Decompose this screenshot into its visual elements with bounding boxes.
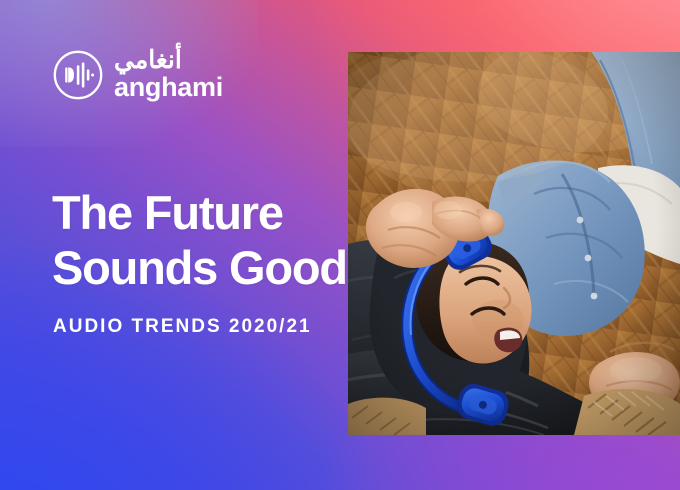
brand-logo[interactable]: أنغامي anghami	[52, 48, 223, 101]
brand-arabic-name: أنغامي	[114, 48, 182, 73]
headline-line-1: The Future	[52, 186, 347, 241]
brand-wordmark: أنغامي anghami	[114, 48, 223, 101]
headline-line-2: Sounds Good	[52, 241, 347, 296]
headline: The Future Sounds Good	[52, 186, 347, 296]
subtitle: AUDIO TRENDS 2020/21	[53, 316, 312, 338]
anghami-circle-waveform-logo-icon	[52, 49, 104, 101]
hero-photo-illustration	[348, 52, 680, 435]
poster-canvas: أنغامي anghami The Future Sounds Good AU…	[0, 0, 680, 490]
hero-photo	[348, 52, 680, 435]
brand-latin-name: anghami	[114, 74, 223, 101]
